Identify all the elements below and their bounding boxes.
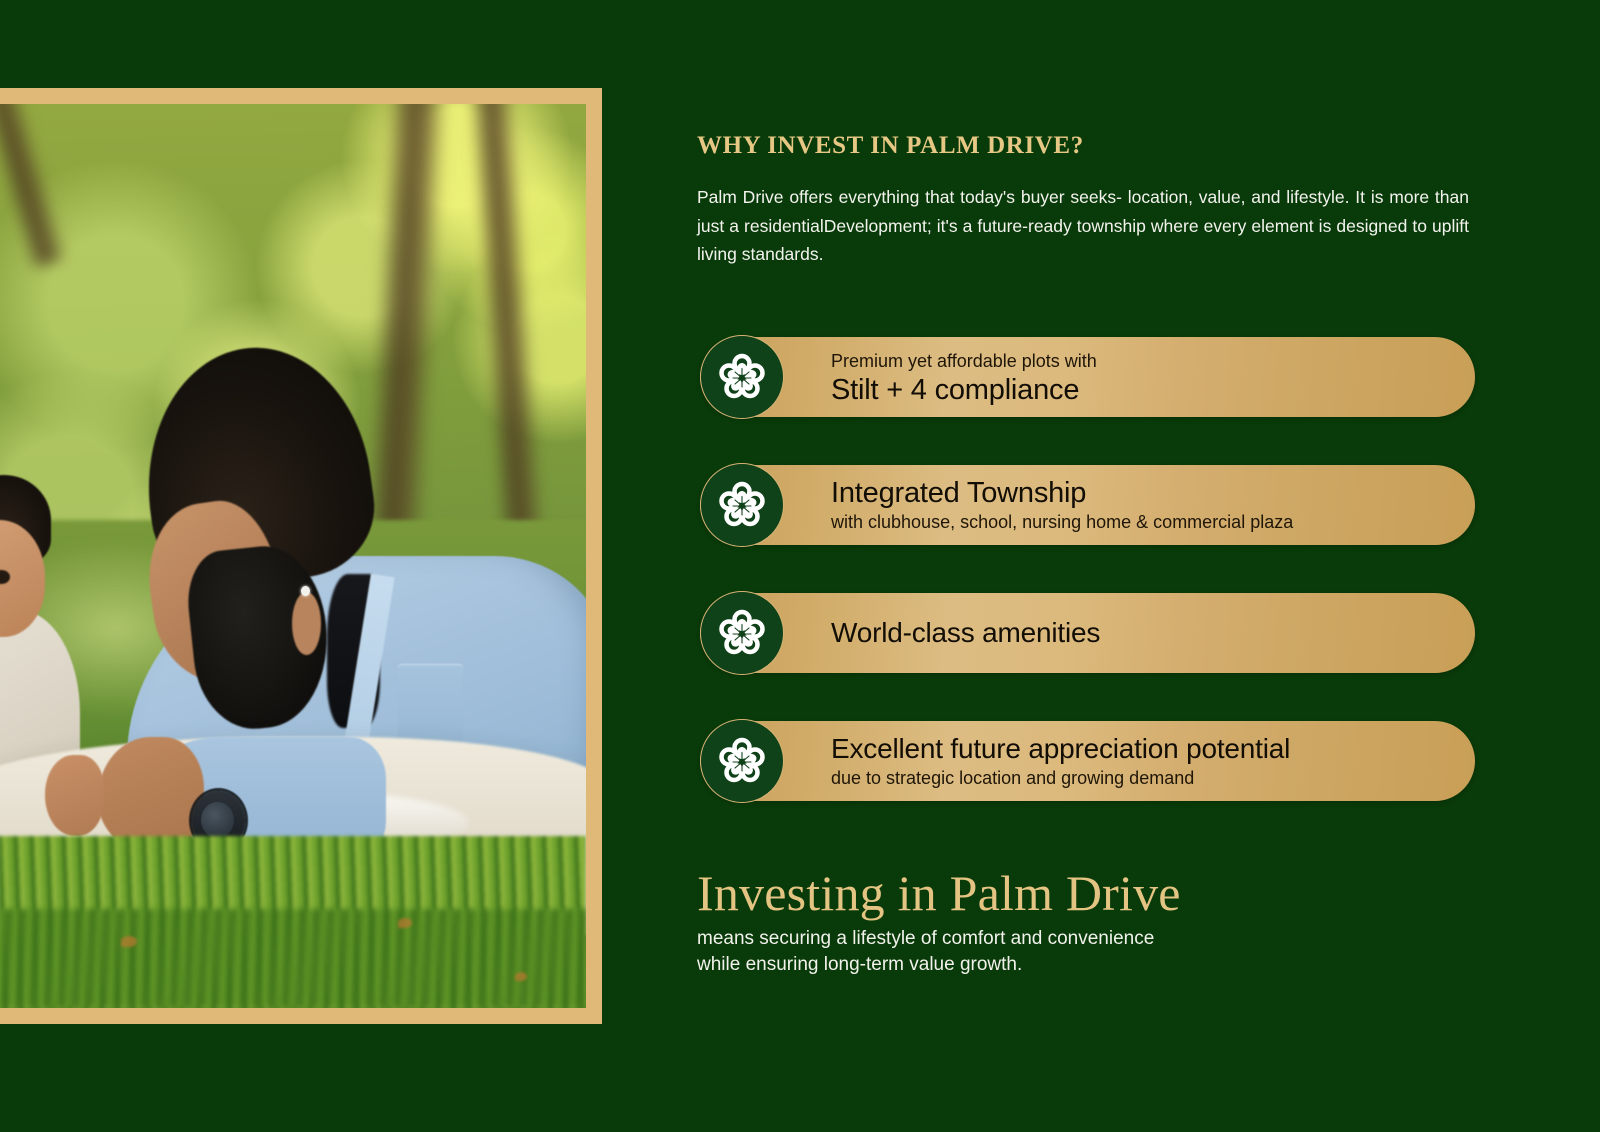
feature-item-future-appreciation[interactable]: Excellent future appreciation potential … <box>700 721 1475 801</box>
feature-title: Integrated Township <box>831 476 1293 510</box>
foreground-grass-blur <box>0 909 586 1008</box>
fallen-leaf <box>398 918 412 928</box>
section-intro-paragraph: Palm Drive offers everything that today'… <box>697 183 1469 269</box>
feature-list: Premium yet affordable plots with Stilt … <box>700 337 1475 801</box>
closing-line-1: means securing a lifestyle of comfort an… <box>697 926 1497 952</box>
feature-text: World-class amenities <box>831 616 1100 650</box>
closing-heading: Investing in Palm Drive <box>697 864 1497 922</box>
content-column: WHY INVEST IN PALM DRIVE? Palm Drive off… <box>697 0 1600 1132</box>
flower-icon <box>700 335 784 419</box>
section-kicker: WHY INVEST IN PALM DRIVE? <box>697 132 1084 160</box>
flower-icon <box>700 719 784 803</box>
brochure-page: WHY INVEST IN PALM DRIVE? Palm Drive off… <box>0 0 1600 1132</box>
feature-title: Excellent future appreciation potential <box>831 732 1290 766</box>
flower-icon <box>700 591 784 675</box>
photo-frame <box>0 88 602 1024</box>
feature-text: Premium yet affordable plots with Stilt … <box>831 349 1097 407</box>
feature-lead: Premium yet affordable plots with <box>831 349 1097 373</box>
feature-text: Integrated Township with clubhouse, scho… <box>831 476 1293 534</box>
child-hand <box>45 755 104 836</box>
man-ear-stud <box>301 586 310 596</box>
feature-item-integrated-township[interactable]: Integrated Township with clubhouse, scho… <box>700 465 1475 545</box>
feature-title: World-class amenities <box>831 616 1100 650</box>
feature-subtitle: due to strategic location and growing de… <box>831 766 1290 790</box>
lifestyle-photo <box>0 104 586 1008</box>
feature-text: Excellent future appreciation potential … <box>831 732 1290 790</box>
fallen-leaf <box>121 936 137 947</box>
feature-title: Stilt + 4 compliance <box>831 373 1097 407</box>
flower-icon <box>700 463 784 547</box>
closing-line-2: while ensuring long-term value growth. <box>697 952 1497 978</box>
feature-item-stilt-4-compliance[interactable]: Premium yet affordable plots with Stilt … <box>700 337 1475 417</box>
feature-item-world-class-amenities[interactable]: World-class amenities <box>700 593 1475 673</box>
feature-subtitle: with clubhouse, school, nursing home & c… <box>831 510 1293 534</box>
man-shirt-pocket <box>398 664 463 745</box>
closing-subtext: means securing a lifestyle of comfort an… <box>697 926 1497 978</box>
closing-block: Investing in Palm Drive means securing a… <box>697 864 1497 978</box>
